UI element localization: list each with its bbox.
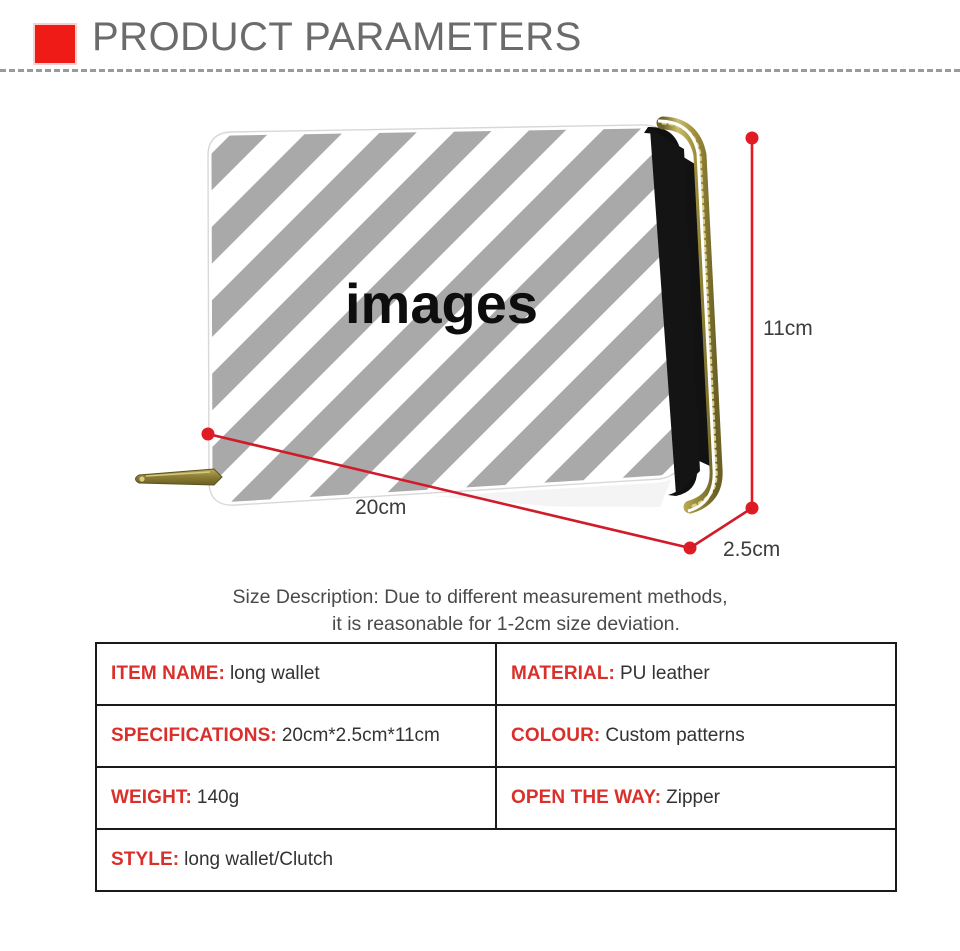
cell-value: PU leather	[620, 663, 710, 684]
cell-label: MATERIAL:	[511, 663, 615, 684]
table-cell-style: STYLE:long wallet/Clutch	[96, 829, 896, 891]
watermark-text: images	[345, 272, 538, 335]
table-row: ITEM NAME:long wallet MATERIAL:PU leathe…	[96, 643, 896, 705]
table-cell-open-the-way: OPEN THE WAY:Zipper	[496, 767, 896, 829]
table-row: WEIGHT:140g OPEN THE WAY:Zipper	[96, 767, 896, 829]
table-cell-item-name: ITEM NAME:long wallet	[96, 643, 496, 705]
table-cell-colour: COLOUR:Custom patterns	[496, 705, 896, 767]
cell-label: WEIGHT:	[111, 787, 192, 808]
cell-label: COLOUR:	[511, 725, 600, 746]
header-red-square-icon	[33, 23, 77, 65]
cell-value: Custom patterns	[605, 725, 744, 746]
wallet-diagram: 11cm 20cm 2.5cm images	[0, 71, 960, 576]
size-description: Size Description: Due to different measu…	[0, 584, 960, 638]
page-title: PRODUCT PARAMETERS	[92, 12, 582, 62]
size-description-line-2: it is reasonable for 1-2cm size deviatio…	[0, 611, 960, 638]
dimension-label-width: 20cm	[355, 496, 406, 519]
cell-value: 140g	[197, 787, 239, 808]
table-cell-material: MATERIAL:PU leather	[496, 643, 896, 705]
table-cell-specifications: SPECIFICATIONS:20cm*2.5cm*11cm	[96, 705, 496, 767]
table-row: SPECIFICATIONS:20cm*2.5cm*11cm COLOUR:Cu…	[96, 705, 896, 767]
page-header: PRODUCT PARAMETERS	[0, 0, 960, 71]
dimension-label-depth: 2.5cm	[723, 538, 780, 561]
zipper-pull-icon	[136, 469, 223, 485]
cell-value: long wallet	[230, 663, 320, 684]
cell-label: SPECIFICATIONS:	[111, 725, 277, 746]
dimension-label-height: 11cm	[763, 317, 813, 340]
specifications-table: ITEM NAME:long wallet MATERIAL:PU leathe…	[95, 642, 897, 892]
product-illustration: 11cm 20cm 2.5cm images	[0, 71, 960, 576]
cell-value: Zipper	[666, 787, 720, 808]
dimension-dot-height-top	[746, 132, 759, 145]
cell-label: ITEM NAME:	[111, 663, 225, 684]
cell-value: 20cm*2.5cm*11cm	[282, 725, 440, 746]
cell-label: OPEN THE WAY:	[511, 787, 661, 808]
dimension-dot-width-left	[202, 428, 215, 441]
cell-label: STYLE:	[111, 849, 179, 870]
table-cell-weight: WEIGHT:140g	[96, 767, 496, 829]
cell-value: long wallet/Clutch	[184, 849, 333, 870]
table-row: STYLE:long wallet/Clutch	[96, 829, 896, 891]
size-description-line-1: Size Description: Due to different measu…	[0, 584, 960, 611]
